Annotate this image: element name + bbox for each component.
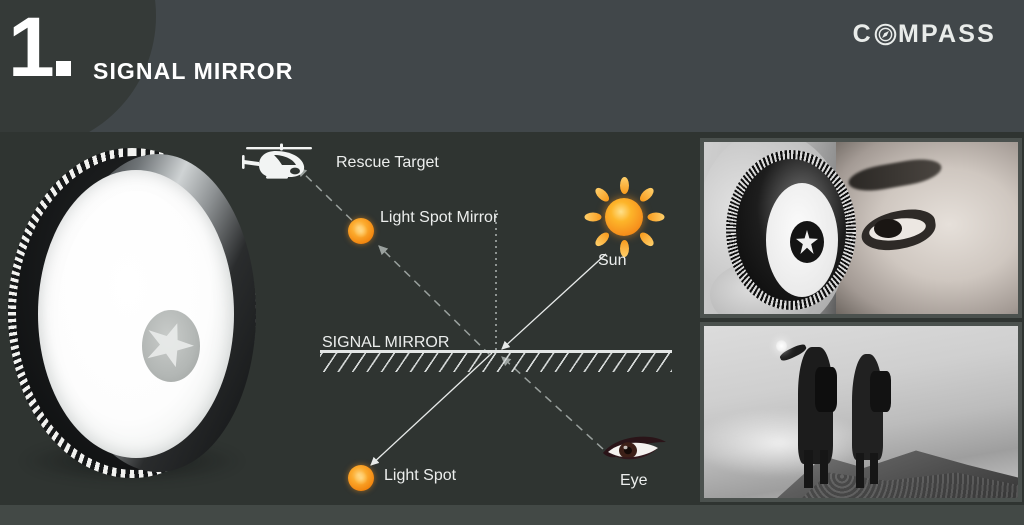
- sun-ray: [585, 213, 602, 222]
- product-mirror-body: [8, 148, 266, 478]
- signal-mirror-diagram: Rescue Target Light Spot Mirror Sun SIGN…: [240, 138, 692, 508]
- photo-mirror-aiming-at-eye-image: [704, 142, 1018, 314]
- brand-logo: C MPASS: [853, 20, 996, 49]
- sun-label: Sun: [598, 252, 626, 270]
- mirror-reflective-face: [38, 170, 234, 458]
- signal-mirror-diagram-label: SIGNAL MIRROR: [322, 334, 449, 352]
- sun-ray: [648, 213, 665, 222]
- slide-header: 1 SIGNAL MIRROR C MPASS: [0, 0, 1024, 132]
- star-icon: [147, 322, 195, 368]
- mirror-aiming-hole: [142, 310, 200, 382]
- sun-ray: [593, 186, 611, 204]
- brand-logo-prefix: C: [853, 20, 873, 49]
- eye-icon: [600, 433, 670, 467]
- brand-logo-suffix: MPASS: [898, 20, 996, 49]
- sun-ray: [638, 230, 656, 248]
- sun-ray: [593, 230, 611, 248]
- light-spot-mirror-label: Light Spot Mirror: [380, 209, 498, 227]
- sun-core: [605, 198, 643, 236]
- light-spot-label: Light Spot: [384, 467, 456, 485]
- footer-strip: [0, 505, 1024, 525]
- compass-icon: [874, 23, 897, 46]
- light-spot-dot: [348, 465, 374, 491]
- sun-ray: [638, 186, 656, 204]
- step-number: 1: [8, 4, 53, 90]
- step-number-badge: 1: [8, 4, 128, 100]
- eye-label: Eye: [620, 472, 648, 490]
- photo-hikers-signaling-image: [704, 326, 1018, 498]
- step-number-dot: [56, 61, 71, 76]
- page-title: SIGNAL MIRROR: [93, 58, 293, 85]
- sun-icon: [585, 178, 663, 256]
- photo-mirror-aiming-at-eye: [700, 138, 1022, 318]
- slide-root: 1 SIGNAL MIRROR C MPASS: [0, 0, 1024, 525]
- sun-to-mirror-ray: [502, 254, 606, 349]
- sun-ray: [620, 177, 629, 194]
- light-spot-mirror-dot: [348, 218, 374, 244]
- rescue-target-label: Rescue Target: [336, 154, 439, 172]
- photo-hikers-signaling: [700, 322, 1022, 502]
- helicopter-icon: [240, 140, 326, 188]
- mirror-surface-hatching: [320, 353, 672, 372]
